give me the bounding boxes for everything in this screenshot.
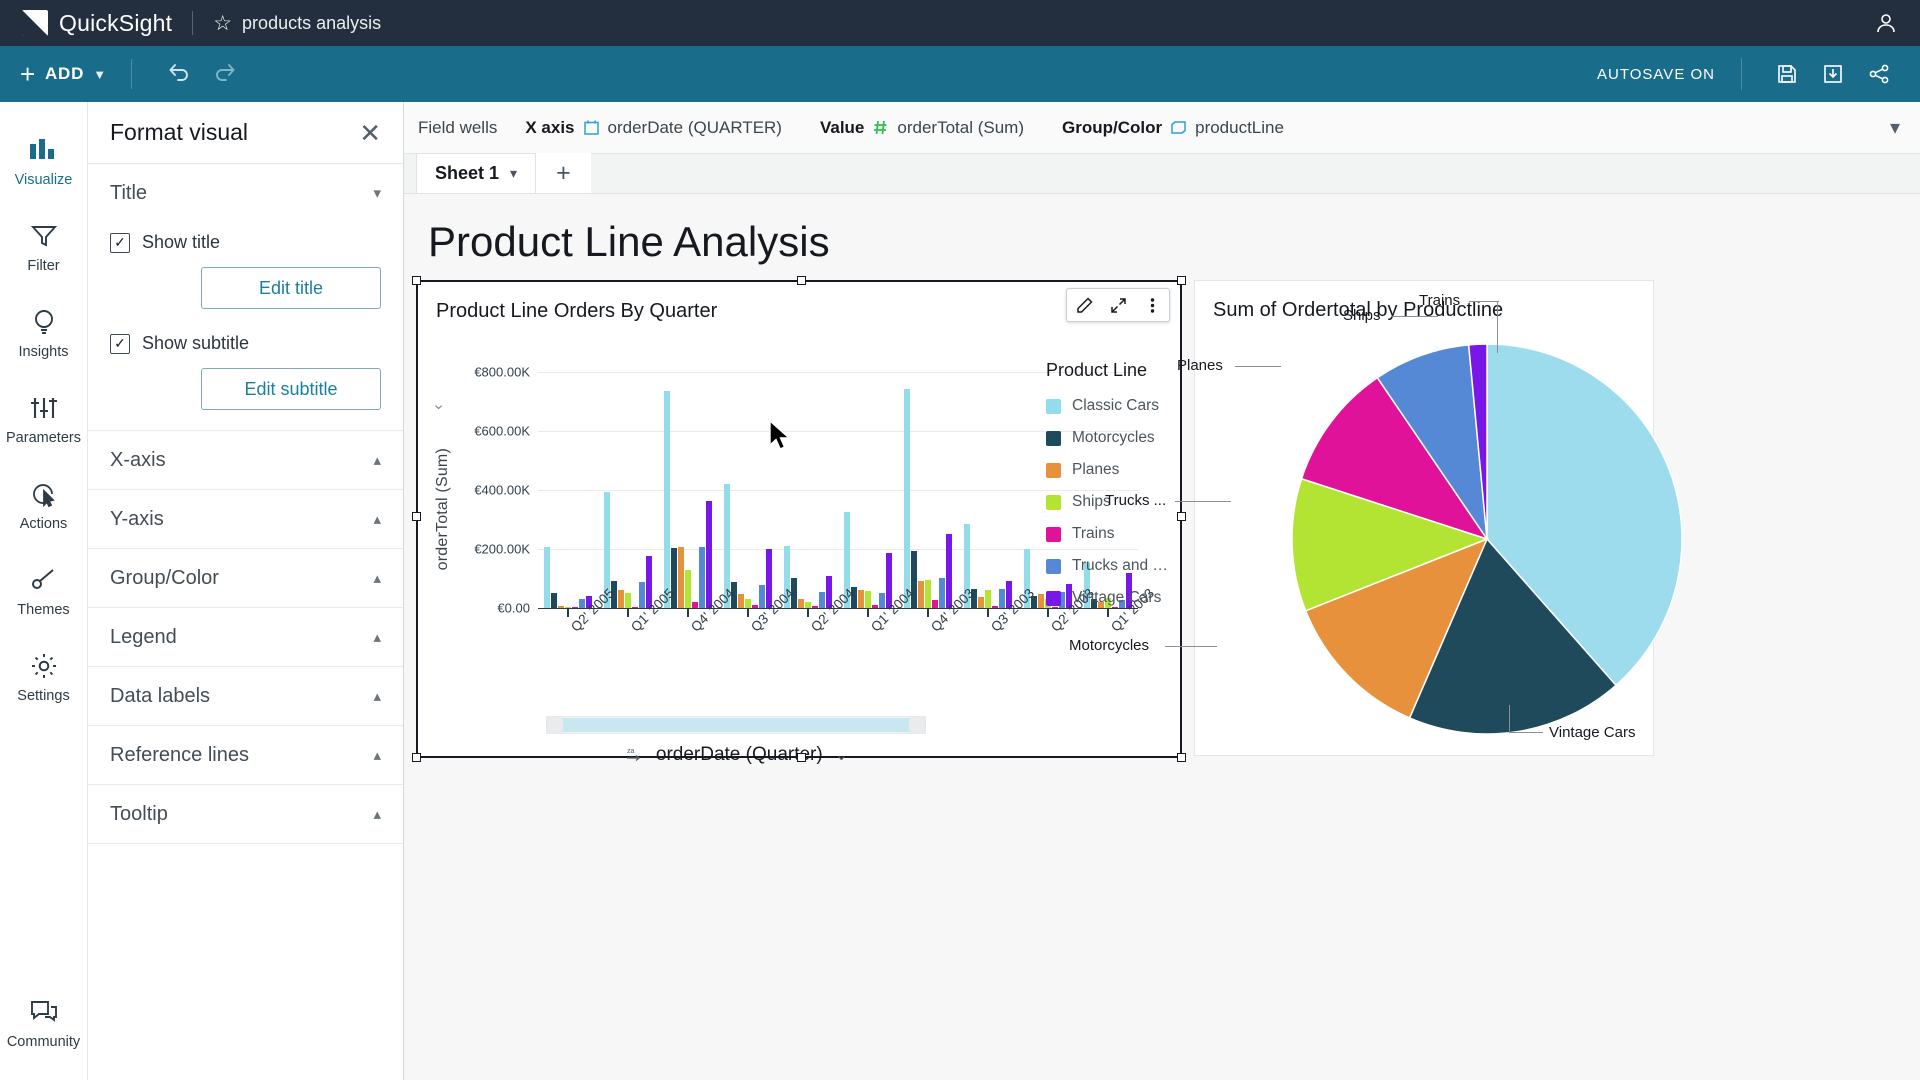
bar-group: [718, 348, 778, 608]
field-wells-bar: Field wells X axis orderDate (QUARTER) V…: [404, 102, 1920, 154]
y-axis-tick-label: €600.00K: [474, 423, 530, 438]
sidebar-label-settings: Settings: [17, 688, 69, 704]
format-visual-panel: Format visual ✕ Title ▾ ✓ Show title Edi…: [88, 102, 404, 1080]
section-data-labels-header[interactable]: Data labels ▴: [110, 667, 381, 725]
section-x-axis: X-axis ▴: [88, 431, 403, 490]
pencil-icon[interactable]: [1067, 289, 1101, 321]
field-well-value-key: Value: [820, 118, 864, 138]
chevron-down-icon[interactable]: ⌄: [835, 745, 848, 765]
mouse-cursor: [768, 420, 794, 454]
bar[interactable]: [985, 590, 991, 608]
sidebar-label-themes: Themes: [17, 602, 69, 618]
y-axis-tick-label: €800.00K: [474, 364, 530, 379]
chevron-up-icon: ▴: [373, 510, 381, 528]
chart-horizontal-scrollbar[interactable]: [546, 716, 926, 734]
bar-group: [898, 348, 958, 608]
visual-toolbar: [1066, 288, 1170, 322]
topbar-divider: [192, 11, 193, 35]
pie-slice-label: Trucks ...: [1105, 492, 1166, 509]
x-axis-label: Q4' 2003: [898, 620, 958, 680]
community-icon: [30, 997, 58, 1027]
legend-item[interactable]: Trucks and …: [1046, 557, 1186, 575]
field-well-group-color[interactable]: Group/Color productLine: [1062, 118, 1284, 138]
legend-item[interactable]: Classic Cars: [1046, 397, 1186, 415]
section-group-color-label: Group/Color: [110, 567, 219, 590]
bar[interactable]: [879, 593, 885, 608]
section-tooltip: Tooltip ▴: [88, 785, 403, 844]
section-title: Title ▾ ✓ Show title Edit title ✓ Show s…: [88, 164, 403, 431]
pie-slice-label: Vintage Cars: [1549, 724, 1635, 741]
field-well-group-color-value: productLine: [1195, 118, 1284, 138]
section-y-axis: Y-axis ▴: [88, 490, 403, 549]
field-wells-label: Field wells: [418, 118, 497, 138]
bar[interactable]: [946, 534, 952, 608]
bar[interactable]: [865, 591, 871, 608]
section-group-color: Group/Color ▴: [88, 549, 403, 608]
bar[interactable]: [759, 585, 765, 608]
show-title-row: ✓ Show title: [110, 232, 381, 253]
sidebar-item-themes[interactable]: Themes: [0, 548, 88, 634]
section-tooltip-header[interactable]: Tooltip ▴: [110, 785, 381, 843]
section-legend: Legend ▴: [88, 608, 403, 667]
section-reference-lines-header[interactable]: Reference lines ▴: [110, 726, 381, 784]
pie-leader-line: [1165, 646, 1217, 647]
sidebar-item-filter[interactable]: Filter: [0, 204, 88, 290]
sidebar-label-actions: Actions: [20, 516, 68, 532]
x-axis-label: Q4' 2004: [658, 620, 718, 680]
bar[interactable]: [706, 501, 712, 608]
legend-label: Vintage Cars: [1072, 589, 1161, 607]
autosave-status: AUTOSAVE ON: [1597, 66, 1715, 83]
undo-icon[interactable]: [156, 61, 202, 88]
x-axis-field-control[interactable]: za orderDate (Quarter) ⌄: [546, 744, 926, 766]
funnel-icon: [30, 221, 58, 251]
show-subtitle-checkbox[interactable]: ✓: [110, 334, 130, 354]
section-reference-lines: Reference lines ▴: [88, 726, 403, 785]
legend-label: Trains: [1072, 525, 1115, 543]
bar-group: [778, 348, 838, 608]
bar[interactable]: [618, 590, 624, 608]
bar[interactable]: [819, 592, 825, 608]
sheet-tab-bar: Sheet 1 ▾ +: [404, 154, 1920, 194]
x-axis-label: Q1' 2004: [838, 620, 898, 680]
bar[interactable]: [699, 547, 705, 608]
paintbrush-icon: [30, 565, 58, 595]
bar[interactable]: [685, 570, 691, 608]
hash-icon: [872, 119, 889, 136]
bar-group: [538, 348, 598, 608]
bar[interactable]: [918, 581, 924, 608]
chevron-down-icon: ▾: [373, 184, 381, 202]
section-legend-header[interactable]: Legend ▴: [110, 608, 381, 666]
section-title-body: ✓ Show title Edit title ✓ Show subtitle …: [110, 232, 381, 430]
pie-leader-line: [1509, 732, 1543, 733]
chevron-up-icon: ▴: [373, 805, 381, 823]
section-group-color-header[interactable]: Group/Color ▴: [110, 549, 381, 607]
sidebar-item-settings[interactable]: Settings: [0, 634, 88, 720]
legend-swatch: [1046, 495, 1061, 510]
sidebar-label-community: Community: [7, 1034, 80, 1050]
legend-item[interactable]: Planes: [1046, 461, 1186, 479]
sidebar-label-insights: Insights: [19, 344, 69, 360]
section-data-labels: Data labels ▴: [88, 667, 403, 726]
resize-handle-middle-right[interactable]: [1177, 512, 1186, 521]
legend-label: Planes: [1072, 461, 1119, 479]
bar-plot-area: › orderTotal (Sum) €0.00€200.00K€400.00K…: [418, 330, 1184, 760]
bar-group: [958, 348, 1018, 608]
download-icon[interactable]: [1822, 63, 1844, 85]
bar[interactable]: [678, 547, 684, 608]
legend-item[interactable]: Trains: [1046, 525, 1186, 543]
field-well-x-axis-key: X axis: [525, 118, 574, 138]
sidebar-item-visualize[interactable]: Visualize: [0, 118, 88, 204]
page-title: Product Line Analysis: [404, 194, 1920, 266]
analysis-name[interactable]: products analysis: [242, 13, 381, 34]
sort-az-icon[interactable]: za: [624, 745, 644, 765]
pie-leader-line: [1497, 301, 1498, 353]
field-well-x-axis-value: orderDate (QUARTER): [608, 118, 782, 138]
resize-handle-top-right[interactable]: [1177, 276, 1186, 285]
sliders-icon: [30, 393, 58, 423]
cursor-target-icon: [30, 479, 58, 509]
section-x-axis-label: X-axis: [110, 449, 166, 472]
toolbar-right-group: AUTOSAVE ON: [1597, 58, 1920, 90]
legend-swatch: [1046, 463, 1061, 478]
x-axis-label: Q2' 2004: [778, 620, 838, 680]
chevron-up-icon: ▴: [373, 746, 381, 764]
section-y-axis-header[interactable]: Y-axis ▴: [110, 490, 381, 548]
bar-chart-icon: [29, 135, 59, 165]
edit-title-button[interactable]: Edit title: [201, 267, 381, 309]
pie-leader-line: [1469, 301, 1499, 302]
legend-swatch: [1046, 591, 1061, 606]
edit-subtitle-button[interactable]: Edit subtitle: [201, 368, 381, 410]
dimension-icon: [1170, 119, 1187, 136]
chevron-down-icon[interactable]: ▾: [510, 165, 517, 182]
sidebar-item-community[interactable]: Community: [0, 980, 88, 1066]
show-title-checkbox[interactable]: ✓: [110, 233, 130, 253]
toolbar-divider-2: [1741, 58, 1742, 90]
bar-group: [838, 348, 898, 608]
add-sheet-button[interactable]: +: [536, 153, 591, 193]
bar[interactable]: [664, 391, 670, 608]
quicksight-app: QuickSight ☆ products analysis + ADD ▼: [0, 0, 1920, 1080]
field-well-value-value: orderTotal (Sum): [897, 118, 1024, 138]
pie-plot: Classic CarsVintage CarsMotorcyclesPlane…: [1287, 339, 1687, 739]
close-icon[interactable]: ✕: [359, 120, 381, 146]
resize-handle-middle-left[interactable]: [412, 512, 421, 521]
panel-title: Format visual: [110, 119, 248, 146]
account-icon[interactable]: [1874, 11, 1898, 35]
show-subtitle-label: Show subtitle: [142, 333, 249, 354]
svg-text:za: za: [627, 748, 635, 755]
show-title-label: Show title: [142, 232, 220, 253]
bar[interactable]: [858, 590, 864, 608]
pie-slice-label: Planes: [1177, 357, 1223, 374]
legend-swatch: [1046, 431, 1061, 446]
sidebar-label-visualize: Visualize: [15, 172, 73, 188]
bar[interactable]: [939, 578, 945, 608]
legend-title: Product Line: [1046, 360, 1186, 381]
pie-leader-line: [1509, 705, 1510, 733]
chart-legend: Product Line Classic CarsMotorcyclesPlan…: [1046, 360, 1186, 621]
sidebar-label-filter: Filter: [27, 258, 59, 274]
chevron-up-icon: ▴: [373, 569, 381, 587]
legend-item[interactable]: Motorcycles: [1046, 429, 1186, 447]
quicksight-logo-icon: [22, 10, 48, 36]
gear-icon: [30, 651, 58, 681]
sheet-canvas: Product Line Analysis Product Line Order…: [404, 194, 1920, 1080]
resize-handle-bottom-left[interactable]: [412, 753, 421, 762]
section-y-axis-label: Y-axis: [110, 508, 164, 531]
bar[interactable]: [639, 582, 645, 608]
chevron-up-icon: ▴: [373, 451, 381, 469]
calendar-icon: [583, 119, 600, 136]
resize-handle-bottom-center[interactable]: [797, 753, 806, 762]
add-button-label: ADD: [45, 64, 84, 84]
bar[interactable]: [925, 580, 931, 608]
section-reference-lines-label: Reference lines: [110, 744, 249, 767]
panel-header: Format visual ✕: [88, 102, 403, 164]
sidebar-item-insights[interactable]: Insights: [0, 290, 88, 376]
y-axis-tick-label: €0.00: [497, 601, 530, 616]
pie-leader-line: [1235, 366, 1281, 367]
pie-leader-line: [1416, 316, 1438, 317]
share-icon[interactable]: [1868, 63, 1890, 85]
field-wells-collapse-icon[interactable]: ▾: [1890, 115, 1900, 140]
x-axis-label: Q3' 2003: [958, 620, 1018, 680]
legend-label: Motorcycles: [1072, 429, 1155, 447]
chevron-down-icon: ▼: [93, 67, 107, 82]
section-x-axis-header[interactable]: X-axis ▴: [110, 431, 381, 489]
section-tooltip-label: Tooltip: [110, 803, 168, 826]
lightbulb-icon: [31, 307, 57, 337]
y-axis-tick-label: €200.00K: [474, 541, 530, 556]
field-well-value[interactable]: Value orderTotal (Sum): [820, 118, 1024, 138]
y-axis-tick-label: €400.00K: [474, 482, 530, 497]
pie-slice-label: Motorcycles: [1069, 637, 1149, 654]
bar[interactable]: [738, 594, 744, 608]
left-navigation-rail: Visualize Filter Insights: [0, 102, 88, 1080]
resize-handle-top-center[interactable]: [797, 276, 806, 285]
product-name: QuickSight: [59, 10, 172, 37]
legend-label: Trucks and …: [1072, 557, 1168, 575]
bar[interactable]: [625, 593, 631, 608]
y-axis-title: orderTotal (Sum): [434, 448, 452, 570]
bar[interactable]: [932, 600, 938, 608]
bar[interactable]: [551, 593, 557, 608]
bar[interactable]: [978, 597, 984, 608]
toolbar-divider: [131, 59, 132, 89]
legend-swatch: [1046, 399, 1061, 414]
kebab-menu-icon[interactable]: [1135, 289, 1169, 321]
bar-group: [598, 348, 658, 608]
field-well-group-color-key: Group/Color: [1062, 118, 1162, 138]
redo-icon[interactable]: [202, 61, 248, 88]
bar[interactable]: [544, 547, 550, 608]
expand-arrows-icon[interactable]: [1101, 289, 1135, 321]
visual-pie-chart[interactable]: Sum of Ordertotal by Productline Classic…: [1194, 280, 1654, 756]
section-title-header[interactable]: Title ▾: [110, 164, 381, 222]
scrollbar-thumb[interactable]: [563, 718, 909, 732]
sidebar-item-actions[interactable]: Actions: [0, 462, 88, 548]
resize-handle-bottom-right[interactable]: [1177, 753, 1186, 762]
bar[interactable]: [745, 599, 751, 608]
bar[interactable]: [904, 389, 910, 608]
chevron-up-icon: ▴: [373, 687, 381, 705]
section-legend-label: Legend: [110, 626, 177, 649]
star-icon[interactable]: ☆: [213, 13, 232, 34]
bar[interactable]: [1038, 594, 1044, 608]
tab-sheet-1-label: Sheet 1: [435, 163, 499, 184]
plus-icon: +: [20, 61, 36, 87]
chevron-up-icon: ▴: [373, 628, 381, 646]
legend-item[interactable]: Vintage Cars: [1046, 589, 1186, 607]
x-axis-label: Q3' 2004: [718, 620, 778, 680]
legend-label: Classic Cars: [1072, 397, 1159, 415]
bar[interactable]: [798, 599, 804, 608]
pie-svg: Classic CarsVintage CarsMotorcyclesPlane…: [1287, 339, 1687, 739]
editor-toolbar: + ADD ▼ AUTOSAVE ON: [0, 46, 1920, 102]
pie-leader-line: [1175, 501, 1231, 502]
sidebar-item-parameters[interactable]: Parameters: [0, 376, 88, 462]
legend-swatch: [1046, 559, 1061, 574]
bar-group: [658, 348, 718, 608]
pie-leader-line: [1391, 316, 1417, 317]
section-title-label: Title: [110, 182, 147, 205]
x-axis-label: Q1' 2005: [598, 620, 658, 680]
sidebar-label-parameters: Parameters: [6, 430, 81, 446]
y-axis-expand-icon[interactable]: ›: [430, 404, 448, 409]
legend-swatch: [1046, 527, 1061, 542]
show-subtitle-row: ✓ Show subtitle: [110, 333, 381, 354]
save-icon[interactable]: [1776, 63, 1798, 85]
resize-handle-top-left[interactable]: [412, 276, 421, 285]
x-axis-labels: Q2' 2005Q1' 2005Q4' 2004Q3' 2004Q2' 2004…: [538, 620, 1138, 680]
bar[interactable]: [999, 589, 1005, 608]
x-axis-label: Q2' 2005: [538, 620, 598, 680]
visual-bar-chart[interactable]: Product Line Orders By Quarter: [416, 280, 1182, 758]
section-data-labels-label: Data labels: [110, 685, 210, 708]
pie-slice-label: Trains: [1419, 292, 1460, 309]
add-button[interactable]: + ADD ▼: [20, 61, 107, 87]
scrollbar-left-button[interactable]: [547, 717, 563, 733]
field-well-x-axis[interactable]: X axis orderDate (QUARTER): [525, 118, 782, 138]
scrollbar-right-button[interactable]: [909, 717, 925, 733]
top-navigation-bar: QuickSight ☆ products analysis: [0, 0, 1920, 46]
pie-slice-label: Ships: [1343, 307, 1381, 324]
tab-sheet-1[interactable]: Sheet 1 ▾: [416, 153, 536, 193]
